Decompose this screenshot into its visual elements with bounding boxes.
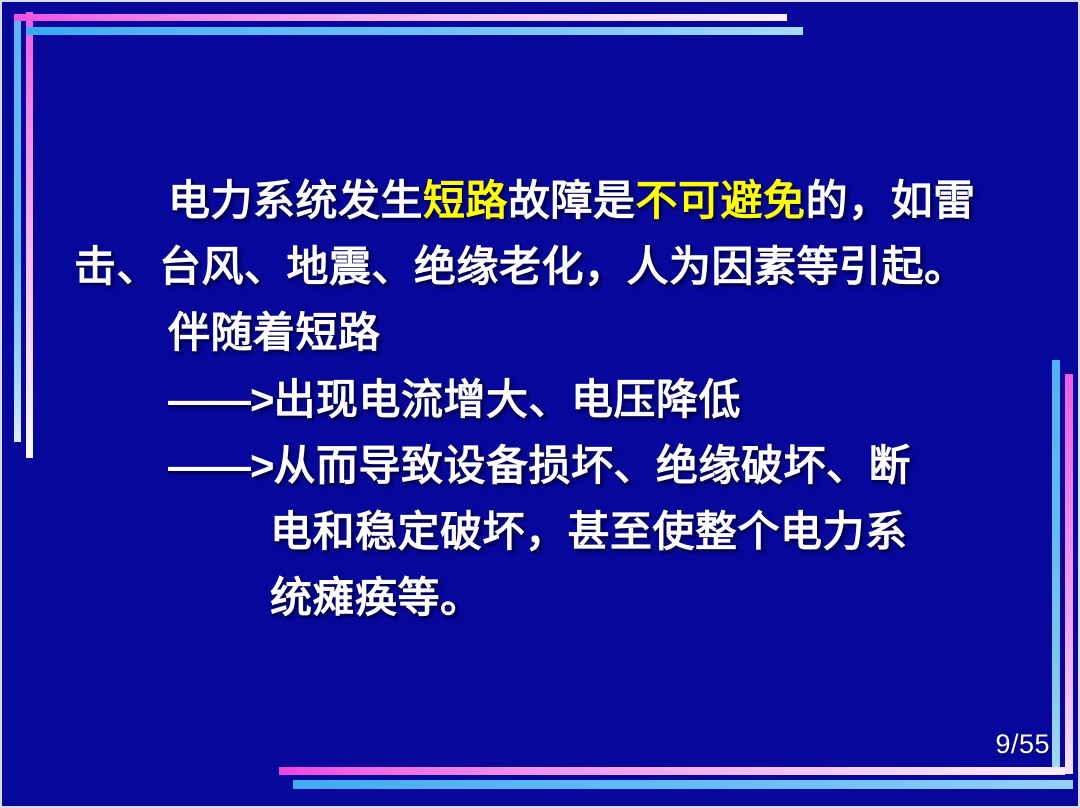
body-line-1-highlight-bukebimian: 不可避免 xyxy=(636,177,806,224)
slide-body-text: 电力系统发生短路故障是不可避免的，如雷 击、台风、地震、绝缘老化，人为因素等引起… xyxy=(2,2,1080,808)
body-line-5: ——>从而导致设备损坏、绝缘破坏、断 xyxy=(168,445,911,487)
body-line-6: 电和稳定破坏，甚至使整个电力系 xyxy=(270,511,908,553)
slide-canvas: 电力系统发生短路故障是不可避免的，如雷 击、台风、地震、绝缘老化，人为因素等引起… xyxy=(0,0,1080,808)
arrow-marker-icon-1: ——> xyxy=(168,376,274,423)
body-line-2: 击、台风、地震、绝缘老化，人为因素等引起。 xyxy=(74,246,967,288)
body-line-1-segment-3: 故障是 xyxy=(508,177,636,224)
page-number-indicator: 9/55 xyxy=(995,729,1050,760)
body-line-5-text: 从而导致设备损坏、绝缘破坏、断 xyxy=(274,442,912,489)
body-line-4-text: 出现电流增大、电压降低 xyxy=(274,376,742,423)
body-line-3: 伴随着短路 xyxy=(168,312,381,354)
body-line-1-segment-1: 电力系统发生 xyxy=(168,177,423,224)
body-line-4: ——>出现电流增大、电压降低 xyxy=(168,379,741,421)
body-line-1-segment-5: 的，如雷 xyxy=(806,177,976,224)
body-line-1-highlight-duanlu: 短路 xyxy=(423,177,508,224)
body-line-1: 电力系统发生短路故障是不可避免的，如雷 xyxy=(168,180,976,222)
body-line-7: 统瘫痪等。 xyxy=(270,577,483,619)
arrow-marker-icon-2: ——> xyxy=(168,442,274,489)
